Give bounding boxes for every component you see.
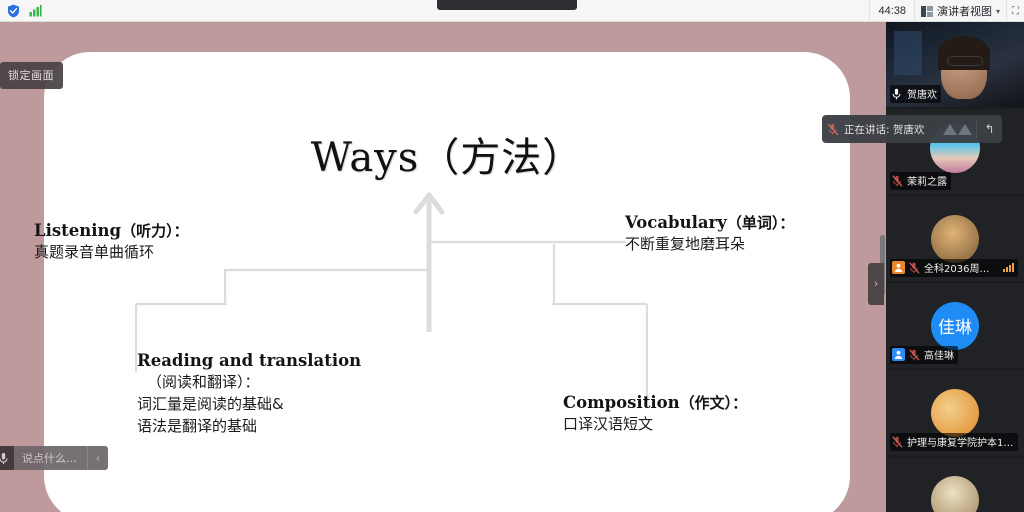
shield-icon[interactable] [4,3,22,19]
mic-off-icon [909,349,920,361]
participant-tile[interactable]: 贺唐欢 [886,22,1024,107]
collapse-chat-icon[interactable]: ‹ [88,446,108,470]
node-listening-heading: Listening（听力）： [34,220,189,242]
node-composition-body: 口译汉语短文 [563,414,747,436]
mic-off-icon [909,262,920,274]
layout-icon [921,6,933,17]
meeting-timer: 44:38 [869,0,914,22]
reply-icon[interactable]: ↰ [976,120,1002,138]
node-reading-translation: Reading and translation （阅读和翻译）： 词汇量是阅读的… [137,350,361,438]
view-mode-selector[interactable]: 演讲者视图 ▾ [914,0,1006,22]
signal-strength-icon [1003,263,1014,272]
mic-muted-icon [822,123,844,136]
mic-on-icon [892,88,903,100]
participant-tile[interactable]: 佳琳 高佳琳 [886,283,1024,368]
slide-title-cn: （方法） [419,135,583,181]
signal-bars-icon[interactable] [26,3,44,19]
participant-name: 全科2036周赛楠 [924,260,997,275]
participant-name: 高佳琳 [924,347,954,362]
node-reading-head-en: Reading and translation [137,350,361,372]
collapse-filmstrip-button[interactable]: › [868,263,884,305]
participant-name: 贺唐欢 [907,86,937,101]
avatar: 佳琳 [931,302,979,350]
say-something-bar[interactable]: 说点什么… ‹ [0,446,108,470]
participant-name: 护理与康复学院护本1984班… [907,434,1014,449]
node-vocabulary: Vocabulary（单词）： 不断重复地磨耳朵 [625,212,794,256]
say-something-input[interactable]: 说点什么… [14,446,88,470]
participant-tile[interactable]: 全科2036周赛楠 [886,196,1024,281]
avatar [931,389,979,437]
participant-filmstrip[interactable]: 贺唐欢 茉莉之露 [886,22,1024,512]
view-mode-label: 演讲者视图 [937,3,992,19]
participant-name-chip: 全科2036周赛楠 [890,259,1018,277]
node-reading-body-line1: 词汇量是阅读的基础& [137,394,361,416]
participant-tile[interactable]: ⌄ [886,457,1024,512]
node-composition-head-cn: （作文）： [680,394,748,412]
active-speaker-banner: 正在讲话: 贺唐欢 ↰ [822,115,1002,143]
node-vocabulary-head-en: Vocabulary [625,213,727,232]
host-badge-icon [892,261,905,274]
avatar-initials: 佳琳 [938,313,972,338]
mic-off-icon [892,175,903,187]
node-listening-head-en: Listening [34,221,121,240]
active-speaker-label: 正在讲话: 贺唐欢 [844,122,943,137]
node-composition-heading: Composition（作文）： [563,392,747,414]
top-bar: 44:38 演讲者视图 ▾ ⛶ [0,0,1024,22]
node-reading-body-line2: 语法是翻译的基础 [137,416,361,438]
node-composition: Composition（作文）： 口译汉语短文 [563,392,747,436]
audio-waveform-icon [943,124,976,135]
node-reading-head-cn: （阅读和翻译）： [137,372,361,394]
cohost-badge-icon [892,348,905,361]
participant-name-chip: 高佳琳 [890,346,958,364]
mindmap-connectors [44,52,850,512]
node-listening-body: 真题录音单曲循环 [34,242,189,264]
mic-off-icon [892,436,903,448]
node-listening-head-cn: （听力）： [121,222,189,240]
node-vocabulary-head-cn: （单词）： [727,214,795,232]
meeting-window: 44:38 演讲者视图 ▾ ⛶ [0,0,1024,512]
presentation-stage: Ways（方法） Listening（听力）： 真题录音单曲循环 Vocabul… [0,22,886,512]
slide-title-en: Ways [311,135,420,181]
node-vocabulary-heading: Vocabulary（单词）： [625,212,794,234]
node-composition-head-en: Composition [563,393,680,412]
participant-name: 茉莉之露 [907,173,947,188]
fullscreen-button[interactable]: ⛶ [1006,0,1024,22]
node-vocabulary-body: 不断重复地磨耳朵 [625,234,794,256]
slide-canvas: Ways（方法） Listening（听力）： 真题录音单曲循环 Vocabul… [44,52,850,512]
slide-title: Ways（方法） [44,125,850,183]
participant-name-chip: 茉莉之露 [890,172,951,190]
microphone-icon[interactable] [0,446,14,470]
participant-avatar [886,457,1024,512]
chevron-down-icon: ▾ [996,7,1000,16]
participant-tile[interactable]: 护理与康复学院护本1984班… [886,370,1024,455]
top-bar-left-icons [0,3,44,19]
avatar [931,476,979,512]
avatar [931,215,979,263]
participant-name-chip: 护理与康复学院护本1984班… [890,433,1018,451]
node-listening: Listening（听力）： 真题录音单曲循环 [34,220,189,264]
lock-screen-tooltip: 锁定画面 [0,62,63,89]
top-bar-right-controls: 44:38 演讲者视图 ▾ ⛶ [869,0,1024,22]
window-drag-tab[interactable] [437,0,577,10]
participant-name-chip: 贺唐欢 [890,85,941,103]
